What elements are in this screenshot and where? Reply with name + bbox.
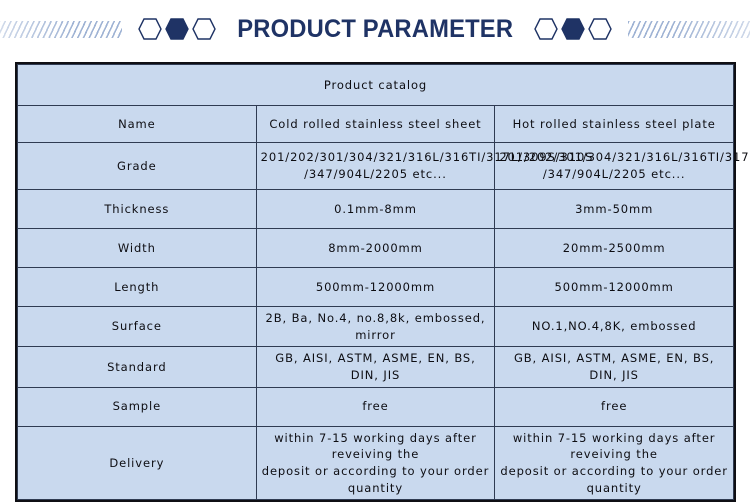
hexagon-group-right [534,18,612,40]
row-label: Name [18,106,257,143]
delivery-hot-line2: deposit or according to your order quant… [499,463,729,496]
hot-rolled-value: 3mm-50mm [495,190,734,229]
hot-rolled-value: 20mm-2500mm [495,229,734,268]
cold-rolled-value: within 7-15 working days after reveiving… [256,426,495,500]
table-row: Surface 2B, Ba, No.4, no.8,8k, embossed,… [18,307,734,347]
page-title: PRODUCT PARAMETER [237,17,513,42]
table-row: Standard GB, AISI, ASTM, ASME, EN, BS, D… [18,347,734,387]
table-caption-row: Product catalog [18,65,734,106]
cold-rolled-value: Cold rolled stainless steel sheet [256,106,495,143]
cold-rolled-value: 2B, Ba, No.4, no.8,8k, embossed, mirror [256,307,495,347]
grade-hot-line1: 201/202/301/304/321/316L/316TI/317L/309S… [499,149,729,166]
row-label: Thickness [18,190,257,229]
row-label: Sample [18,387,257,426]
table-row: Thickness 0.1mm-8mm 3mm-50mm [18,190,734,229]
delivery-cold-line1: within 7-15 working days after reveiving… [261,430,491,463]
hexagon-filled-icon [165,18,189,40]
product-parameter-table: Product catalog Name Cold rolled stainle… [17,64,734,500]
page-header: PRODUCT PARAMETER [0,0,750,58]
hexagon-outline-icon [588,18,612,40]
stripe-decoration-left [0,21,122,38]
table-row: Name Cold rolled stainless steel sheet H… [18,106,734,143]
delivery-cold-line2: deposit or according to your order quant… [261,463,491,496]
cold-rolled-value: 8mm-2000mm [256,229,495,268]
row-label: Delivery [18,426,257,500]
table-row: Width 8mm-2000mm 20mm-2500mm [18,229,734,268]
hexagon-group-left [138,18,216,40]
row-label: Width [18,229,257,268]
hot-rolled-value: free [495,387,734,426]
cold-rolled-value: GB, AISI, ASTM, ASME, EN, BS, DIN, JIS [256,347,495,387]
hot-rolled-value: NO.1,NO.4,8K, embossed [495,307,734,347]
cold-rolled-value: 201/202/301/304/321/316L/316TI/317L/309S… [256,143,495,190]
grade-cold-line1: 201/202/301/304/321/316L/316TI/317L/309S… [261,149,491,166]
delivery-hot-line1: within 7-15 working days after reveiving… [499,430,729,463]
hot-rolled-value: GB, AISI, ASTM, ASME, EN, BS, DIN, JIS [495,347,734,387]
cold-rolled-value: 500mm-12000mm [256,268,495,307]
row-label: Grade [18,143,257,190]
hexagon-outline-icon [534,18,558,40]
row-label: Surface [18,307,257,347]
table-row: Sample free free [18,387,734,426]
hexagon-filled-icon [561,18,585,40]
grade-hot-line2: /347/904L/2205 etc... [499,166,729,183]
table-row: Length 500mm-12000mm 500mm-12000mm [18,268,734,307]
hot-rolled-value: 500mm-12000mm [495,268,734,307]
hot-rolled-value: within 7-15 working days after reveiving… [495,426,734,500]
table-row: Delivery within 7-15 working days after … [18,426,734,500]
stripe-decoration-right [628,21,750,38]
product-parameter-table-wrapper: Product catalog Name Cold rolled stainle… [15,62,736,502]
hot-rolled-value: Hot rolled stainless steel plate [495,106,734,143]
hexagon-outline-icon [138,18,162,40]
cold-rolled-value: 0.1mm-8mm [256,190,495,229]
table-caption: Product catalog [18,65,734,106]
grade-cold-line2: /347/904L/2205 etc... [261,166,491,183]
table-row: Grade 201/202/301/304/321/316L/316TI/317… [18,143,734,190]
hexagon-outline-icon [192,18,216,40]
hot-rolled-value: 201/202/301/304/321/316L/316TI/317L/309S… [495,143,734,190]
row-label: Length [18,268,257,307]
row-label: Standard [18,347,257,387]
cold-rolled-value: free [256,387,495,426]
